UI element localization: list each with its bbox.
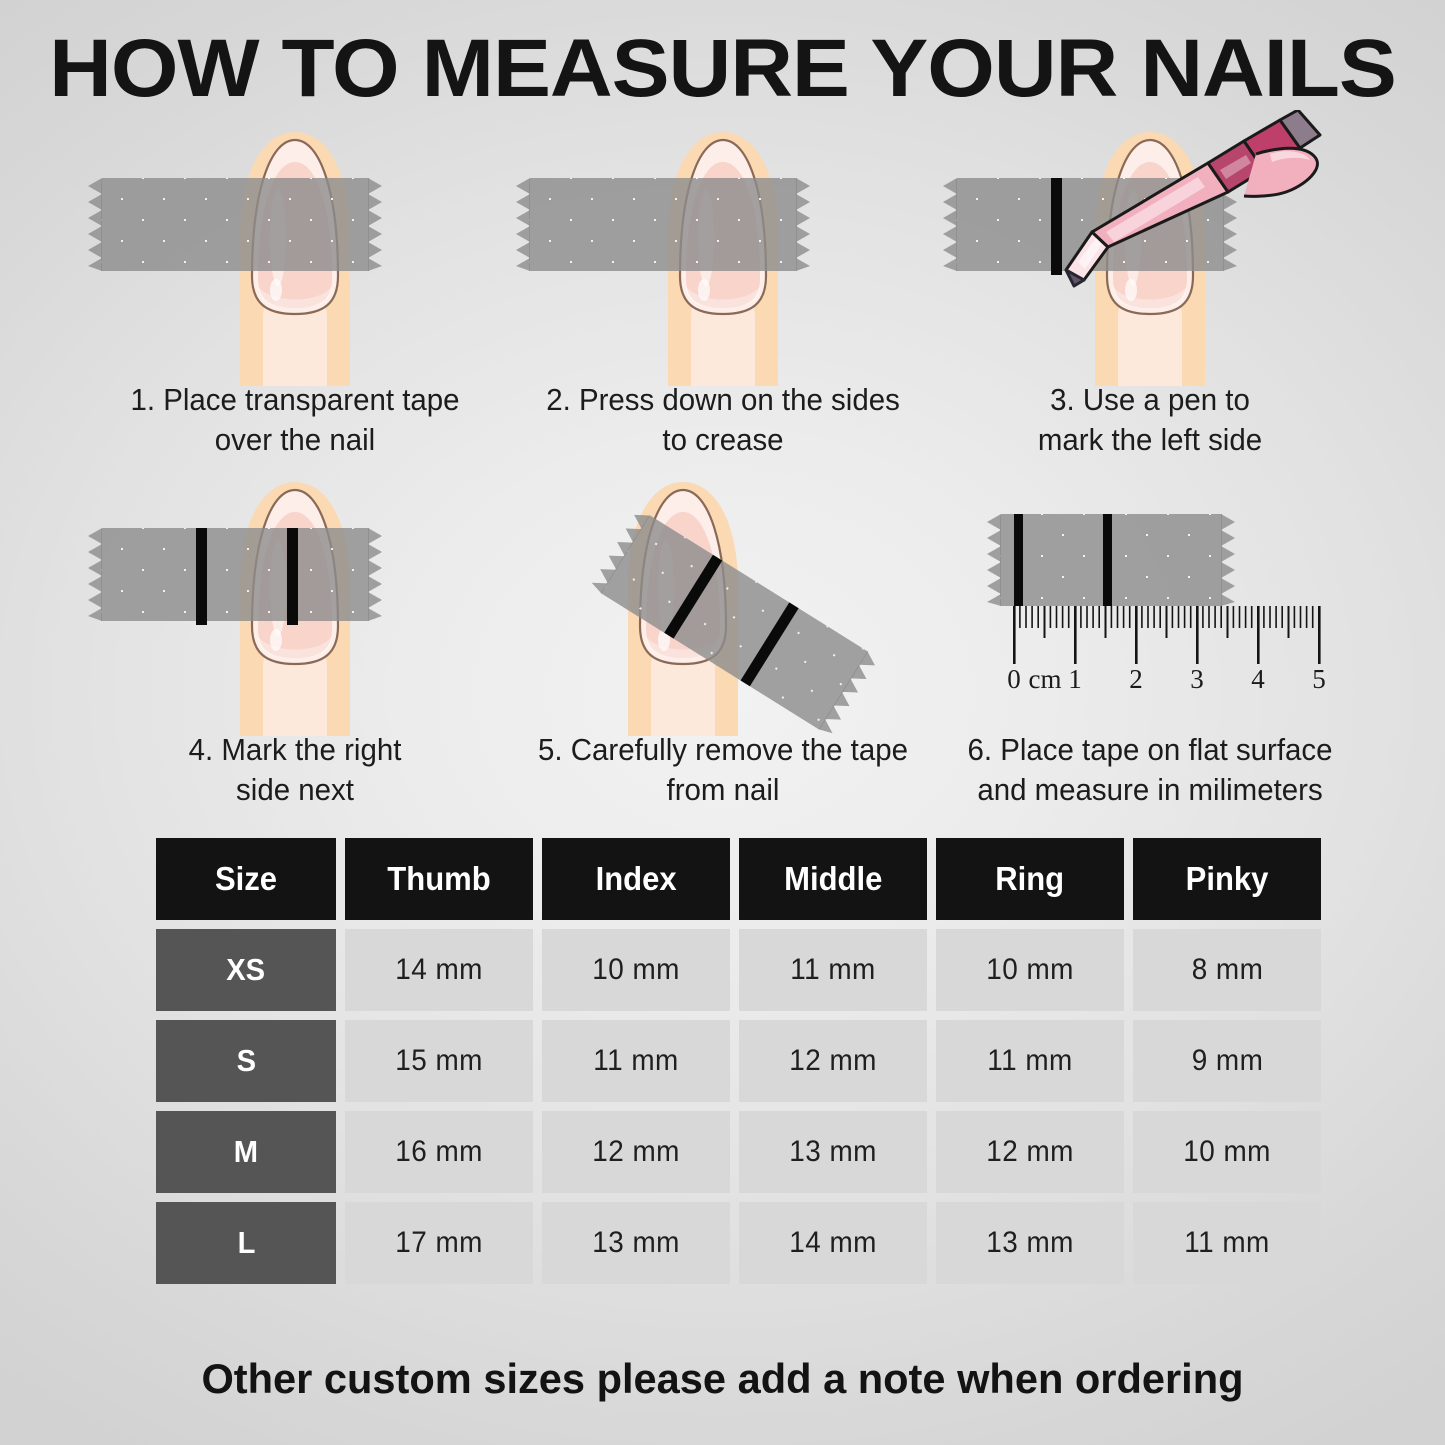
cell-s-thumb: 15 mm <box>345 1020 533 1102</box>
step-6-caption-line1: 6. Place tape on flat surface <box>951 730 1350 770</box>
cell-s-index: 11 mm <box>542 1020 730 1102</box>
tape-strip <box>101 528 369 621</box>
ruler-ticks <box>1000 606 1340 668</box>
cell-xs-index: 10 mm <box>542 929 730 1011</box>
cell-m-pinky: 10 mm <box>1133 1111 1321 1193</box>
step-3-caption-line1: 3. Use a pen to <box>951 380 1350 420</box>
page-title: HOW TO MEASURE YOUR NAILS <box>0 24 1445 114</box>
step-4-illustration <box>85 468 505 736</box>
pen-icon <box>1048 110 1368 300</box>
step-6: 0 cm 1 2 3 4 5 6. Place tape on flat sur… <box>940 468 1360 736</box>
tape-zigzag-left <box>516 178 530 271</box>
step-5-illustration <box>513 468 933 736</box>
cell-xs-ring: 10 mm <box>936 929 1124 1011</box>
step-1-illustration <box>85 118 505 386</box>
step-6-illustration: 0 cm 1 2 3 4 5 <box>940 468 1360 736</box>
table-row: M 16 mm 12 mm 13 mm 12 mm 10 mm <box>156 1111 1322 1193</box>
tape-strip <box>1000 514 1222 606</box>
cell-l-index: 13 mm <box>542 1202 730 1284</box>
ruler-label-1: 1 <box>1055 664 1095 695</box>
tape-zigzag-right <box>1221 514 1235 606</box>
step-5-caption-line2: from nail <box>524 770 923 810</box>
cell-xs-middle: 11 mm <box>739 929 927 1011</box>
tape-strip <box>529 178 797 271</box>
cell-m-middle: 13 mm <box>739 1111 927 1193</box>
table-row: L 17 mm 13 mm 14 mm 13 mm 11 mm <box>156 1202 1322 1284</box>
step-4: 4. Mark the right side next <box>85 468 505 736</box>
table-header-pinky: Pinky <box>1133 838 1321 920</box>
pen-mark-left <box>1014 514 1023 606</box>
cell-xs-pinky: 8 mm <box>1133 929 1321 1011</box>
size-label-m: M <box>156 1111 336 1193</box>
table-header-middle: Middle <box>739 838 927 920</box>
step-2: 2. Press down on the sides to crease <box>513 118 933 386</box>
tape-zigzag-left <box>88 528 102 621</box>
pen-mark-right <box>287 528 298 625</box>
step-2-caption-line1: 2. Press down on the sides <box>524 380 923 420</box>
cell-l-thumb: 17 mm <box>345 1202 533 1284</box>
pen-mark-right <box>1103 514 1112 606</box>
step-4-caption-line1: 4. Mark the right <box>96 730 495 770</box>
tape-zigzag-left <box>943 178 957 271</box>
step-3: 3. Use a pen to mark the left side <box>940 118 1360 386</box>
step-1-caption-line1: 1. Place transparent tape <box>96 380 495 420</box>
size-table: Size Thumb Index Middle Ring Pinky XS 14… <box>156 838 1322 1293</box>
step-1-caption-line2: over the nail <box>96 420 495 460</box>
step-4-caption-line2: side next <box>96 770 495 810</box>
cell-s-middle: 12 mm <box>739 1020 927 1102</box>
step-3-caption-line2: mark the left side <box>951 420 1350 460</box>
step-5: 5. Carefully remove the tape from nail <box>513 468 933 736</box>
table-header-row: Size Thumb Index Middle Ring Pinky <box>156 838 1322 920</box>
tape-zigzag-right <box>368 528 382 621</box>
cell-s-pinky: 9 mm <box>1133 1020 1321 1102</box>
cell-m-index: 12 mm <box>542 1111 730 1193</box>
step-6-caption-line2: and measure in milimeters <box>951 770 1350 810</box>
ruler-label-2: 2 <box>1116 664 1156 695</box>
ruler: 0 cm 1 2 3 4 5 <box>1000 606 1340 696</box>
cell-m-thumb: 16 mm <box>345 1111 533 1193</box>
ruler-label-3: 3 <box>1177 664 1217 695</box>
cell-xs-thumb: 14 mm <box>345 929 533 1011</box>
ruler-label-5: 5 <box>1299 664 1339 695</box>
table-row: S 15 mm 11 mm 12 mm 11 mm 9 mm <box>156 1020 1322 1102</box>
table-header-index: Index <box>542 838 730 920</box>
ruler-label-4: 4 <box>1238 664 1278 695</box>
tape-band <box>101 178 369 271</box>
step-3-illustration <box>940 118 1360 386</box>
table-header-size: Size <box>156 838 336 920</box>
cell-l-middle: 14 mm <box>739 1202 927 1284</box>
table-row: XS 14 mm 10 mm 11 mm 10 mm 8 mm <box>156 929 1322 1011</box>
size-label-s: S <box>156 1020 336 1102</box>
table-header-thumb: Thumb <box>345 838 533 920</box>
tape-zigzag-right <box>368 178 382 271</box>
footer-note: Other custom sizes please add a note whe… <box>7 1355 1438 1403</box>
step-5-caption-line1: 5. Carefully remove the tape <box>524 730 923 770</box>
step-2-illustration <box>513 118 933 386</box>
table-header-ring: Ring <box>936 838 1124 920</box>
tape-zigzag-left <box>88 178 102 271</box>
tape-band <box>529 178 797 271</box>
cell-l-pinky: 11 mm <box>1133 1202 1321 1284</box>
step-1: 1. Place transparent tape over the nail <box>85 118 505 386</box>
cell-s-ring: 11 mm <box>936 1020 1124 1102</box>
tape-strip <box>101 178 369 271</box>
infographic-page: HOW TO MEASURE YOUR NAILS <box>0 0 1445 1445</box>
tape-zigzag-right <box>796 178 810 271</box>
pen-mark-left <box>196 528 207 625</box>
cell-m-ring: 12 mm <box>936 1111 1124 1193</box>
size-label-xs: XS <box>156 929 336 1011</box>
step-2-caption-line2: to crease <box>524 420 923 460</box>
size-label-l: L <box>156 1202 336 1284</box>
tape-zigzag-left <box>987 514 1001 606</box>
cell-l-ring: 13 mm <box>936 1202 1124 1284</box>
tape-band <box>101 528 369 621</box>
